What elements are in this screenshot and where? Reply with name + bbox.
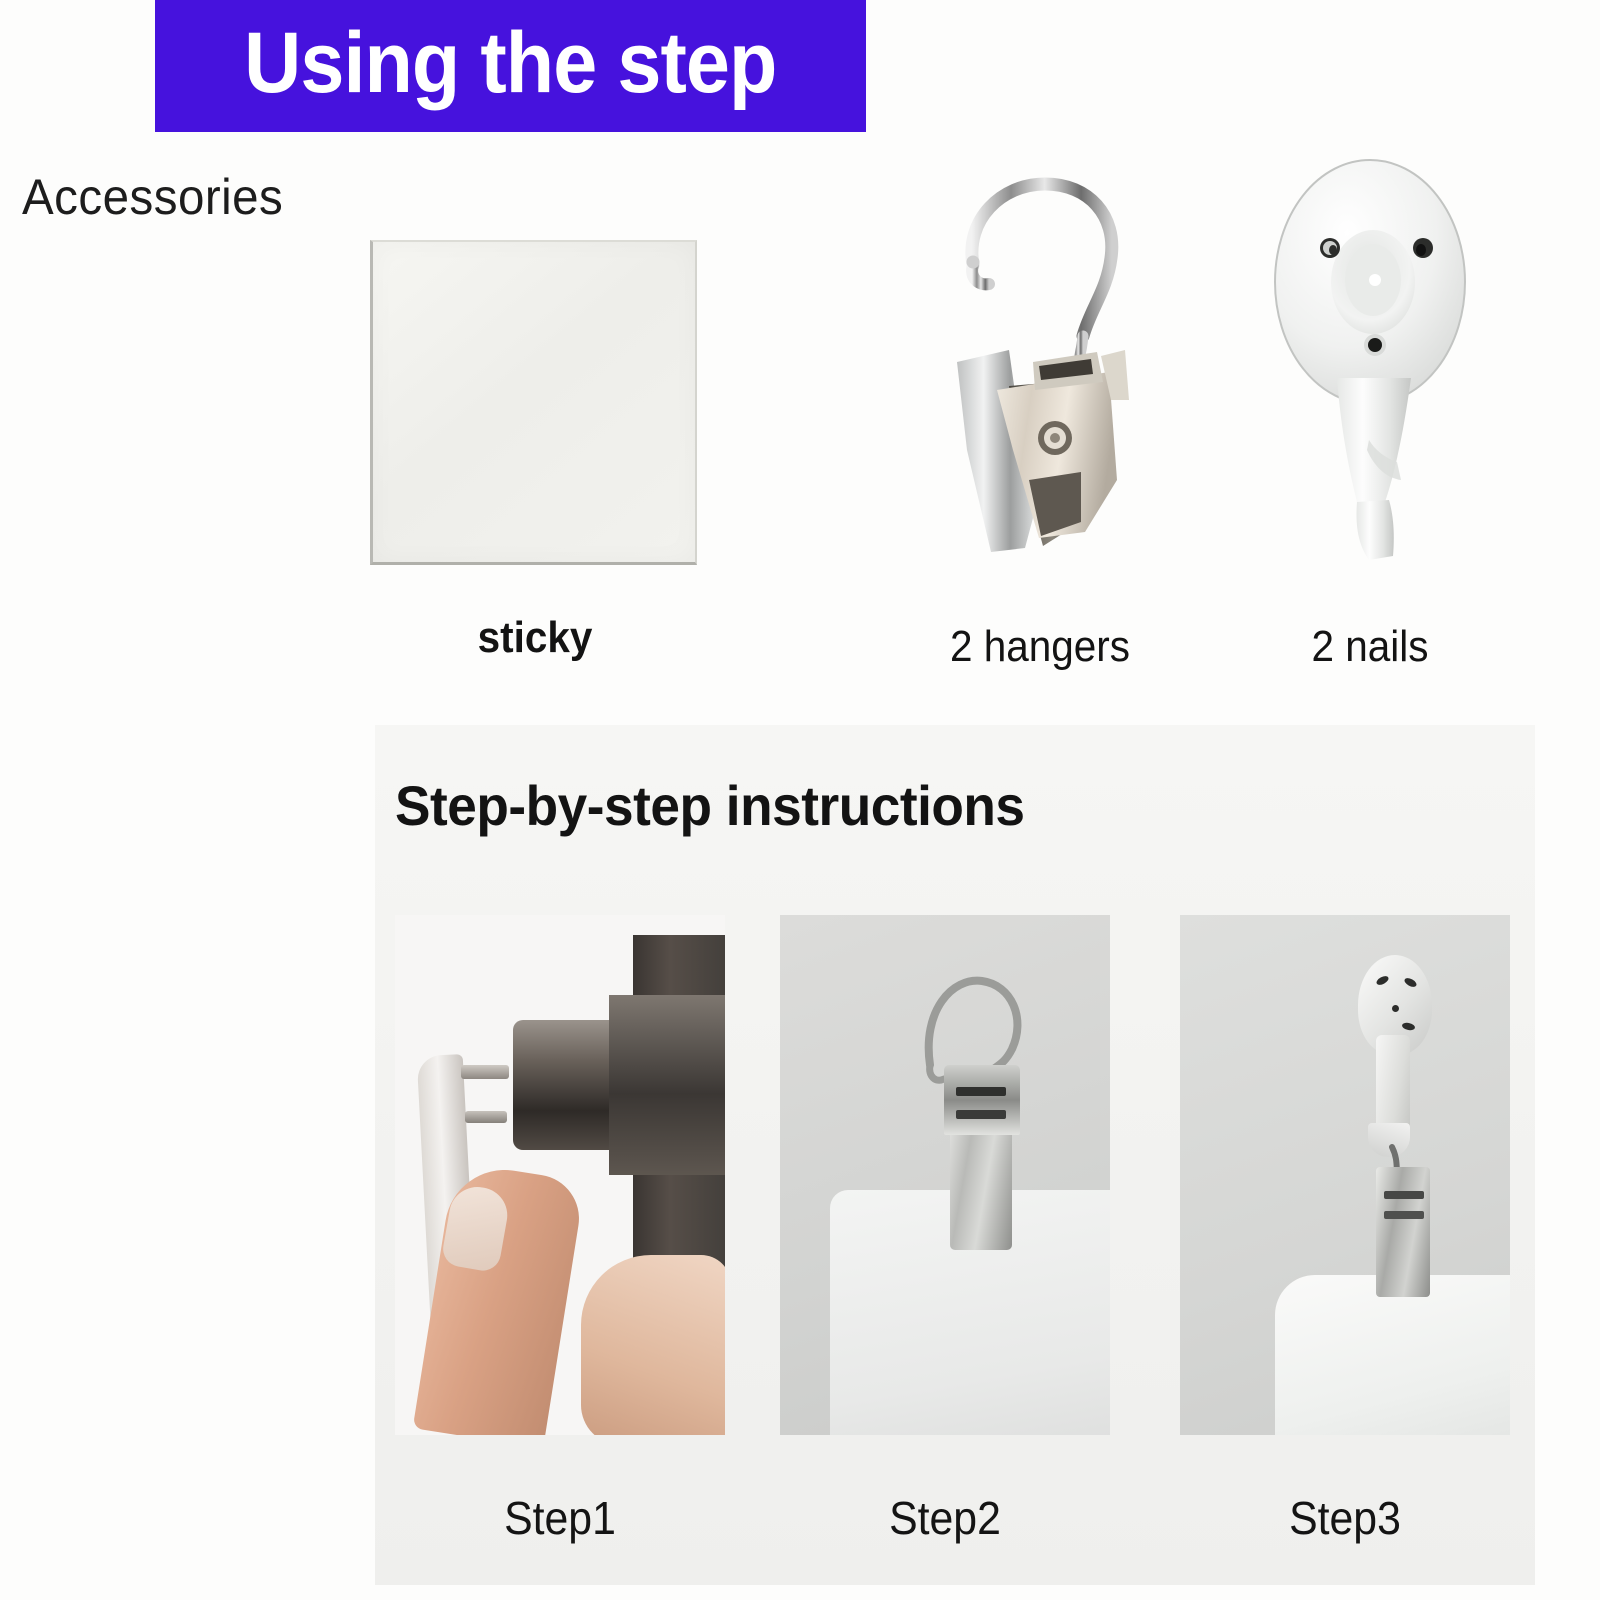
wall-hook-icon xyxy=(1245,150,1495,570)
accessory-caption-hangers: 2 hangers xyxy=(916,622,1164,672)
clip-hanger-gripping-sheet-photo xyxy=(780,915,1110,1435)
step-caption-1: Step1 xyxy=(407,1491,714,1545)
step-caption-2: Step2 xyxy=(792,1491,1099,1545)
step-cell-3: Step3 xyxy=(1180,915,1510,1545)
accessory-caption-nails: 2 nails xyxy=(1255,622,1485,672)
accessory-item-sticky: sticky xyxy=(370,240,700,663)
adhesive-pad-icon xyxy=(370,240,700,565)
clip-hanger-icon xyxy=(905,150,1175,570)
accessory-item-nails: 2 nails xyxy=(1245,150,1495,672)
title-banner: Using the step xyxy=(155,0,866,132)
instructions-title: Step-by-step instructions xyxy=(395,773,1025,838)
step-caption-3: Step3 xyxy=(1192,1491,1499,1545)
instructions-panel: Step-by-step instructions Step1 xyxy=(375,725,1535,1585)
steps-row: Step1 Step2 xyxy=(395,915,1535,1555)
step-cell-1: Step1 xyxy=(395,915,725,1545)
mounted-hook-holding-clip-photo xyxy=(1180,915,1510,1435)
page-title: Using the step xyxy=(244,20,776,112)
accessory-item-hangers: 2 hangers xyxy=(905,150,1175,672)
accessory-caption-sticky: sticky xyxy=(383,613,687,663)
hammering-nail-into-hook-photo xyxy=(395,915,725,1435)
step-cell-2: Step2 xyxy=(780,915,1110,1545)
accessories-row: sticky xyxy=(0,150,1600,670)
